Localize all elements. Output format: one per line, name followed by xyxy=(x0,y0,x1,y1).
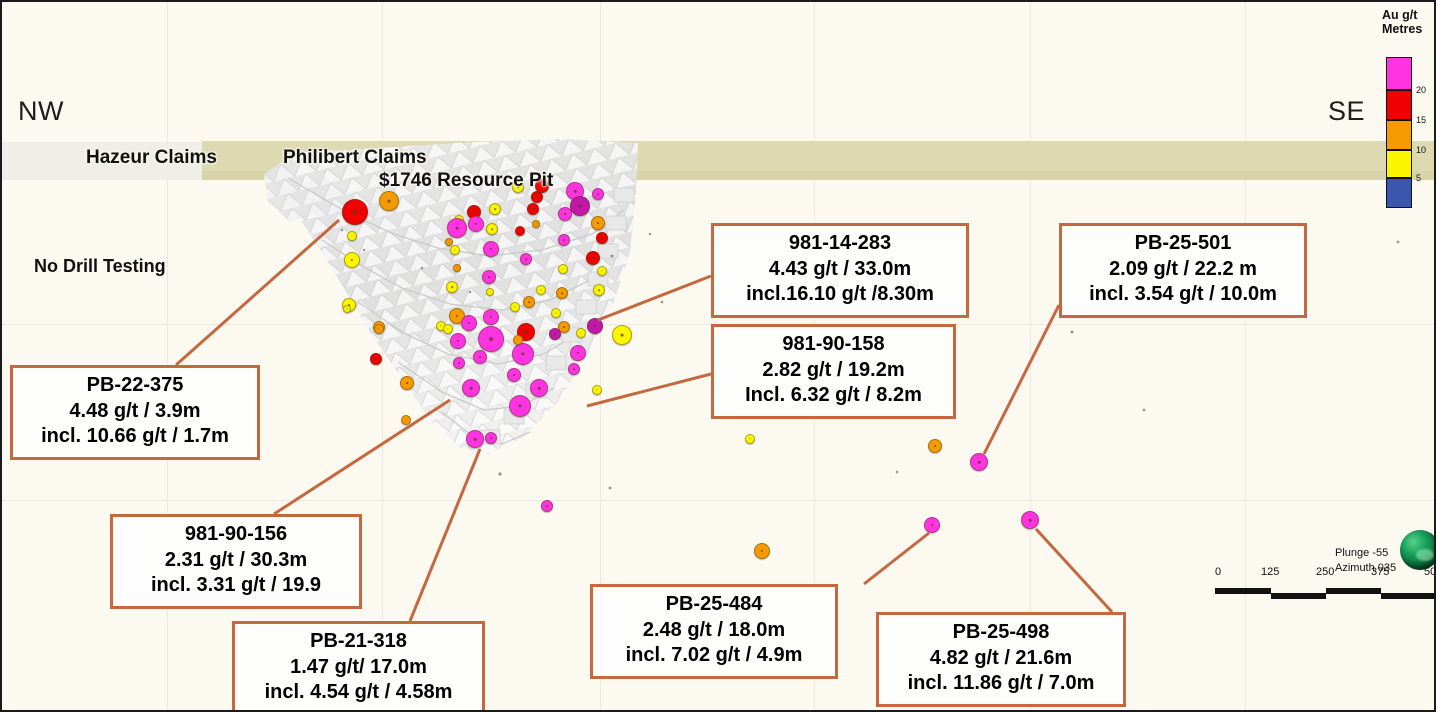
callout-hole-id: 981-90-156 xyxy=(123,522,349,548)
leader-line xyxy=(274,400,450,514)
legend-title-line1: Au g/t xyxy=(1382,8,1417,22)
drill-intercept-disc xyxy=(515,226,525,236)
drill-intercept-disc xyxy=(558,234,570,246)
drill-intercept-disc xyxy=(466,430,484,448)
drill-collar-dot xyxy=(517,339,518,340)
callout-included-interval: incl. 10.66 g/t / 1.7m xyxy=(23,424,247,450)
callout-hole-id: PB-25-501 xyxy=(1072,231,1294,257)
drill-collar-dot xyxy=(473,211,475,213)
callout-included-interval: incl. 3.31 g/t / 19.9 xyxy=(123,573,349,599)
drill-collar-dot xyxy=(490,292,491,293)
direction-label-nw: NW xyxy=(18,96,64,127)
drill-collar-dot xyxy=(528,301,530,303)
drill-collar-dot xyxy=(525,331,528,334)
scale-label-125: 125 xyxy=(1261,566,1279,578)
drill-collar-dot xyxy=(521,352,524,355)
drill-collar-dot xyxy=(451,286,453,288)
drill-intercept-disc xyxy=(928,439,942,453)
drill-collar-dot xyxy=(447,328,448,329)
legend-tick-10: 10 xyxy=(1416,145,1426,155)
drill-collar-dot xyxy=(488,276,490,278)
drill-intercept-disc xyxy=(509,395,531,417)
legend-title: Au g/t Metres xyxy=(1382,8,1422,37)
drill-collar-dot xyxy=(601,270,602,271)
drill-collar-dot xyxy=(470,387,473,390)
drill-collar-dot xyxy=(761,550,763,552)
drill-intercept-disc xyxy=(453,357,465,369)
leader-line xyxy=(410,449,480,621)
cross-section-figure: NW SE Hazeur Claims Philibert Claims $17… xyxy=(0,0,1436,712)
scale-seg-3 xyxy=(1326,588,1381,594)
drill-intercept-disc xyxy=(510,302,520,312)
drill-collar-dot xyxy=(562,268,563,269)
drill-collar-dot xyxy=(596,389,597,390)
leader-line xyxy=(1036,529,1112,612)
callout-hole-id: PB-25-498 xyxy=(889,620,1113,646)
drill-intercept-disc xyxy=(596,232,608,244)
callout-hole-id: 981-90-158 xyxy=(724,332,943,358)
drill-intercept-disc xyxy=(450,333,466,349)
drill-collar-dot xyxy=(594,325,596,327)
scale-seg-4 xyxy=(1381,593,1436,599)
drill-collar-dot xyxy=(563,239,565,241)
drill-intercept-disc xyxy=(570,345,586,361)
callout-hole-id: 981-14-283 xyxy=(724,231,956,257)
drill-collar-dot xyxy=(388,200,391,203)
drill-collar-dot xyxy=(978,461,981,464)
drill-collar-dot xyxy=(538,387,541,390)
drill-collar-dot xyxy=(561,292,563,294)
drill-collar-dot xyxy=(563,326,565,328)
drill-collar-dot xyxy=(601,237,603,239)
drill-collar-dot xyxy=(525,258,527,260)
drill-intercept-disc xyxy=(591,216,605,230)
drill-collar-dot xyxy=(490,437,492,439)
drill-collar-dot xyxy=(597,193,599,195)
drill-intercept-disc xyxy=(483,241,499,257)
drill-intercept-disc xyxy=(482,270,496,284)
callout-interval: 1.47 g/t/ 17.0m xyxy=(245,655,472,681)
drill-intercept-disc xyxy=(379,191,399,211)
legend-tick-5: 5 xyxy=(1416,173,1421,183)
drill-collar-dot xyxy=(449,242,450,243)
drill-intercept-disc xyxy=(473,350,487,364)
drill-intercept-disc xyxy=(532,220,540,228)
drill-collar-dot xyxy=(457,340,459,342)
drill-collar-dot xyxy=(621,334,624,337)
drill-collar-dot xyxy=(474,438,477,441)
drill-collar-dot xyxy=(456,227,459,230)
legend-swatch-15-20 xyxy=(1386,90,1412,120)
drill-intercept-disc xyxy=(478,326,504,352)
drill-collar-dot xyxy=(931,524,933,526)
drill-collar-dot xyxy=(514,306,515,307)
drill-collar-dot xyxy=(577,352,579,354)
drill-intercept-disc xyxy=(512,343,534,365)
drill-intercept-disc xyxy=(924,517,940,533)
drill-intercept-disc xyxy=(461,315,477,331)
gridline-vertical xyxy=(382,2,383,710)
drill-intercept-disc xyxy=(597,266,607,276)
drill-intercept-disc xyxy=(370,353,382,365)
drill-collar-dot xyxy=(579,205,582,208)
drill-collar-dot xyxy=(532,208,534,210)
callout-hole-id: PB-21-318 xyxy=(245,629,472,655)
drill-intercept-disc xyxy=(587,318,603,334)
drill-intercept-disc xyxy=(568,363,580,375)
drill-intercept-disc xyxy=(468,216,484,232)
drill-intercept-disc xyxy=(549,328,561,340)
leader-line xyxy=(984,305,1059,454)
callout-981-90-158[interactable]: 981-90-1582.82 g/t / 19.2mIncl. 6.32 g/t… xyxy=(711,324,956,419)
drill-intercept-disc xyxy=(462,379,480,397)
drill-intercept-disc xyxy=(486,288,494,296)
scale-seg-2 xyxy=(1271,593,1326,599)
drill-collar-dot xyxy=(749,438,750,439)
scale-label-250: 250 xyxy=(1316,566,1334,578)
drill-intercept-disc xyxy=(344,252,360,268)
drill-intercept-disc xyxy=(745,434,755,444)
callout-interval: 4.82 g/t / 21.6m xyxy=(889,646,1113,672)
drill-intercept-disc xyxy=(530,379,548,397)
drill-intercept-disc xyxy=(443,324,453,334)
drill-collar-dot xyxy=(494,208,496,210)
drill-intercept-disc xyxy=(754,543,770,559)
drill-intercept-disc xyxy=(527,203,539,215)
compass-highlight xyxy=(1416,549,1434,561)
callout-interval: 4.43 g/t / 33.0m xyxy=(724,257,956,283)
scale-label-0: 0 xyxy=(1215,566,1221,578)
drill-collar-dot xyxy=(347,309,348,310)
drill-intercept-disc xyxy=(586,251,600,265)
gridline-vertical xyxy=(1245,2,1246,710)
gridline-vertical xyxy=(1030,2,1031,710)
drill-collar-dot xyxy=(519,230,520,231)
plunge-value: Plunge -55 xyxy=(1335,547,1388,559)
drill-intercept-disc xyxy=(592,188,604,200)
drill-collar-dot xyxy=(598,289,600,291)
drill-intercept-disc xyxy=(445,238,453,246)
label-no-drill-testing: No Drill Testing xyxy=(34,256,166,277)
drill-intercept-disc xyxy=(342,199,368,225)
legend-swatch-over-20 xyxy=(1386,57,1412,90)
callout-981-14-283[interactable]: 981-14-2834.43 g/t / 33.0mincl.16.10 g/t… xyxy=(711,223,969,318)
drill-intercept-disc xyxy=(612,325,632,345)
callout-included-interval: incl.16.10 g/t /8.30m xyxy=(724,282,956,308)
drill-collar-dot xyxy=(518,404,521,407)
drill-collar-dot xyxy=(573,368,575,370)
callout-included-interval: incl. 7.02 g/t / 4.9m xyxy=(603,643,825,669)
leader-line xyxy=(176,220,339,365)
drill-intercept-disc xyxy=(1021,511,1039,529)
drill-intercept-disc xyxy=(570,196,590,216)
legend-swatch-under-5 xyxy=(1386,178,1412,208)
drill-collar-dot xyxy=(479,356,481,358)
drill-collar-dot xyxy=(934,445,936,447)
drill-collar-dot xyxy=(574,190,577,193)
drill-collar-dot xyxy=(458,362,460,364)
drill-intercept-disc xyxy=(536,285,546,295)
drill-intercept-disc xyxy=(520,253,532,265)
label-hazeur-claims: Hazeur Claims xyxy=(86,147,217,169)
drill-collar-dot xyxy=(489,337,493,341)
callout-hole-id: PB-22-375 xyxy=(23,373,247,399)
legend-swatch-10-15 xyxy=(1386,120,1412,150)
drill-intercept-disc xyxy=(513,335,523,345)
scale-bar: 0 125 250 375 500 xyxy=(1215,580,1436,602)
grade-legend: Au g/t Metres 20 15 10 5 xyxy=(1378,2,1434,217)
drill-collar-dot xyxy=(1029,519,1032,522)
drill-collar-dot xyxy=(554,333,556,335)
legend-title-line2: Metres xyxy=(1382,22,1422,36)
drill-intercept-disc xyxy=(446,281,458,293)
scale-seg-1 xyxy=(1215,588,1271,594)
callout-interval: 2.09 g/t / 22.2 m xyxy=(1072,257,1294,283)
drill-collar-dot xyxy=(536,224,537,225)
drill-intercept-disc xyxy=(558,264,568,274)
drill-intercept-disc xyxy=(485,432,497,444)
callout-pb-22-375[interactable]: PB-22-3754.48 g/t / 3.9mincl. 10.66 g/t … xyxy=(10,365,260,460)
drill-collar-dot xyxy=(536,196,538,198)
drill-intercept-disc xyxy=(400,376,414,390)
drill-collar-dot xyxy=(490,248,492,250)
drill-collar-dot xyxy=(378,328,379,329)
drill-collar-dot xyxy=(490,316,492,318)
scale-label-375: 375 xyxy=(1371,566,1389,578)
legend-swatch-5-10 xyxy=(1386,150,1412,178)
drill-intercept-disc xyxy=(343,305,351,313)
callout-pb-25-484[interactable]: PB-25-4842.48 g/t / 18.0mincl. 7.02 g/t … xyxy=(590,584,838,679)
callout-included-interval: Incl. 6.32 g/t / 8.2m xyxy=(724,383,943,409)
drill-intercept-disc xyxy=(592,385,602,395)
drill-intercept-disc xyxy=(576,328,586,338)
drill-collar-dot xyxy=(513,374,515,376)
callout-included-interval: incl. 3.54 g/t / 10.0m xyxy=(1072,282,1294,308)
label-resource-pit: $1746 Resource Pit xyxy=(379,170,553,192)
drill-collar-dot xyxy=(592,257,594,259)
drill-collar-dot xyxy=(456,315,458,317)
drill-collar-dot xyxy=(454,249,455,250)
drill-collar-dot xyxy=(555,312,556,313)
drill-intercept-disc xyxy=(486,223,498,235)
drill-intercept-disc xyxy=(523,296,535,308)
label-philibert-claims: Philibert Claims xyxy=(283,147,427,169)
drill-intercept-disc xyxy=(374,324,384,334)
callout-interval: 2.31 g/t / 30.3m xyxy=(123,548,349,574)
callout-981-90-156[interactable]: 981-90-1562.31 g/t / 30.3mincl. 3.31 g/t… xyxy=(110,514,362,609)
drill-collar-dot xyxy=(475,223,477,225)
drill-collar-dot xyxy=(351,259,353,261)
gridline-horizontal xyxy=(2,500,1434,501)
drill-collar-dot xyxy=(351,235,352,236)
scale-label-500: 500 xyxy=(1424,566,1436,578)
drill-intercept-disc xyxy=(593,284,605,296)
drill-collar-dot xyxy=(440,325,441,326)
drill-collar-dot xyxy=(564,213,566,215)
legend-tick-20: 20 xyxy=(1416,85,1426,95)
drill-intercept-disc xyxy=(551,308,561,318)
drill-intercept-disc xyxy=(556,287,568,299)
drill-intercept-disc xyxy=(401,415,411,425)
callout-hole-id: PB-25-484 xyxy=(603,592,825,618)
callout-pb-21-318[interactable]: PB-21-3181.47 g/t/ 17.0mincl. 4.54 g/t /… xyxy=(232,621,485,712)
drill-collar-dot xyxy=(580,332,581,333)
drill-collar-dot xyxy=(457,268,458,269)
callout-included-interval: incl. 4.54 g/t / 4.58m xyxy=(245,680,472,706)
legend-tick-15: 15 xyxy=(1416,115,1426,125)
drill-collar-dot xyxy=(546,505,548,507)
drill-collar-dot xyxy=(406,382,408,384)
drill-collar-dot xyxy=(353,210,357,214)
drill-collar-dot xyxy=(491,228,493,230)
callout-interval: 2.82 g/t / 19.2m xyxy=(724,358,943,384)
drill-collar-dot xyxy=(375,358,377,360)
drill-collar-dot xyxy=(468,322,470,324)
direction-label-se: SE xyxy=(1328,96,1365,127)
drill-collar-dot xyxy=(597,222,599,224)
leader-line xyxy=(864,533,929,584)
drill-intercept-disc xyxy=(447,218,467,238)
callout-included-interval: incl. 11.86 g/t / 7.0m xyxy=(889,671,1113,697)
compass-sphere-icon xyxy=(1400,530,1436,570)
leader-line xyxy=(587,374,711,406)
callout-interval: 4.48 g/t / 3.9m xyxy=(23,399,247,425)
drill-intercept-disc xyxy=(541,500,553,512)
callout-pb-25-498[interactable]: PB-25-4984.82 g/t / 21.6mincl. 11.86 g/t… xyxy=(876,612,1126,707)
leader-line xyxy=(598,276,711,320)
drill-collar-dot xyxy=(540,289,541,290)
drill-intercept-disc xyxy=(450,245,460,255)
drill-intercept-disc xyxy=(453,264,461,272)
drill-intercept-disc xyxy=(507,368,521,382)
drill-intercept-disc xyxy=(489,203,501,215)
callout-interval: 2.48 g/t / 18.0m xyxy=(603,618,825,644)
drill-intercept-disc xyxy=(347,231,357,241)
drill-intercept-disc xyxy=(483,309,499,325)
drill-collar-dot xyxy=(405,419,406,420)
callout-pb-25-501[interactable]: PB-25-5012.09 g/t / 22.2 mincl. 3.54 g/t… xyxy=(1059,223,1307,318)
drill-intercept-disc xyxy=(970,453,988,471)
